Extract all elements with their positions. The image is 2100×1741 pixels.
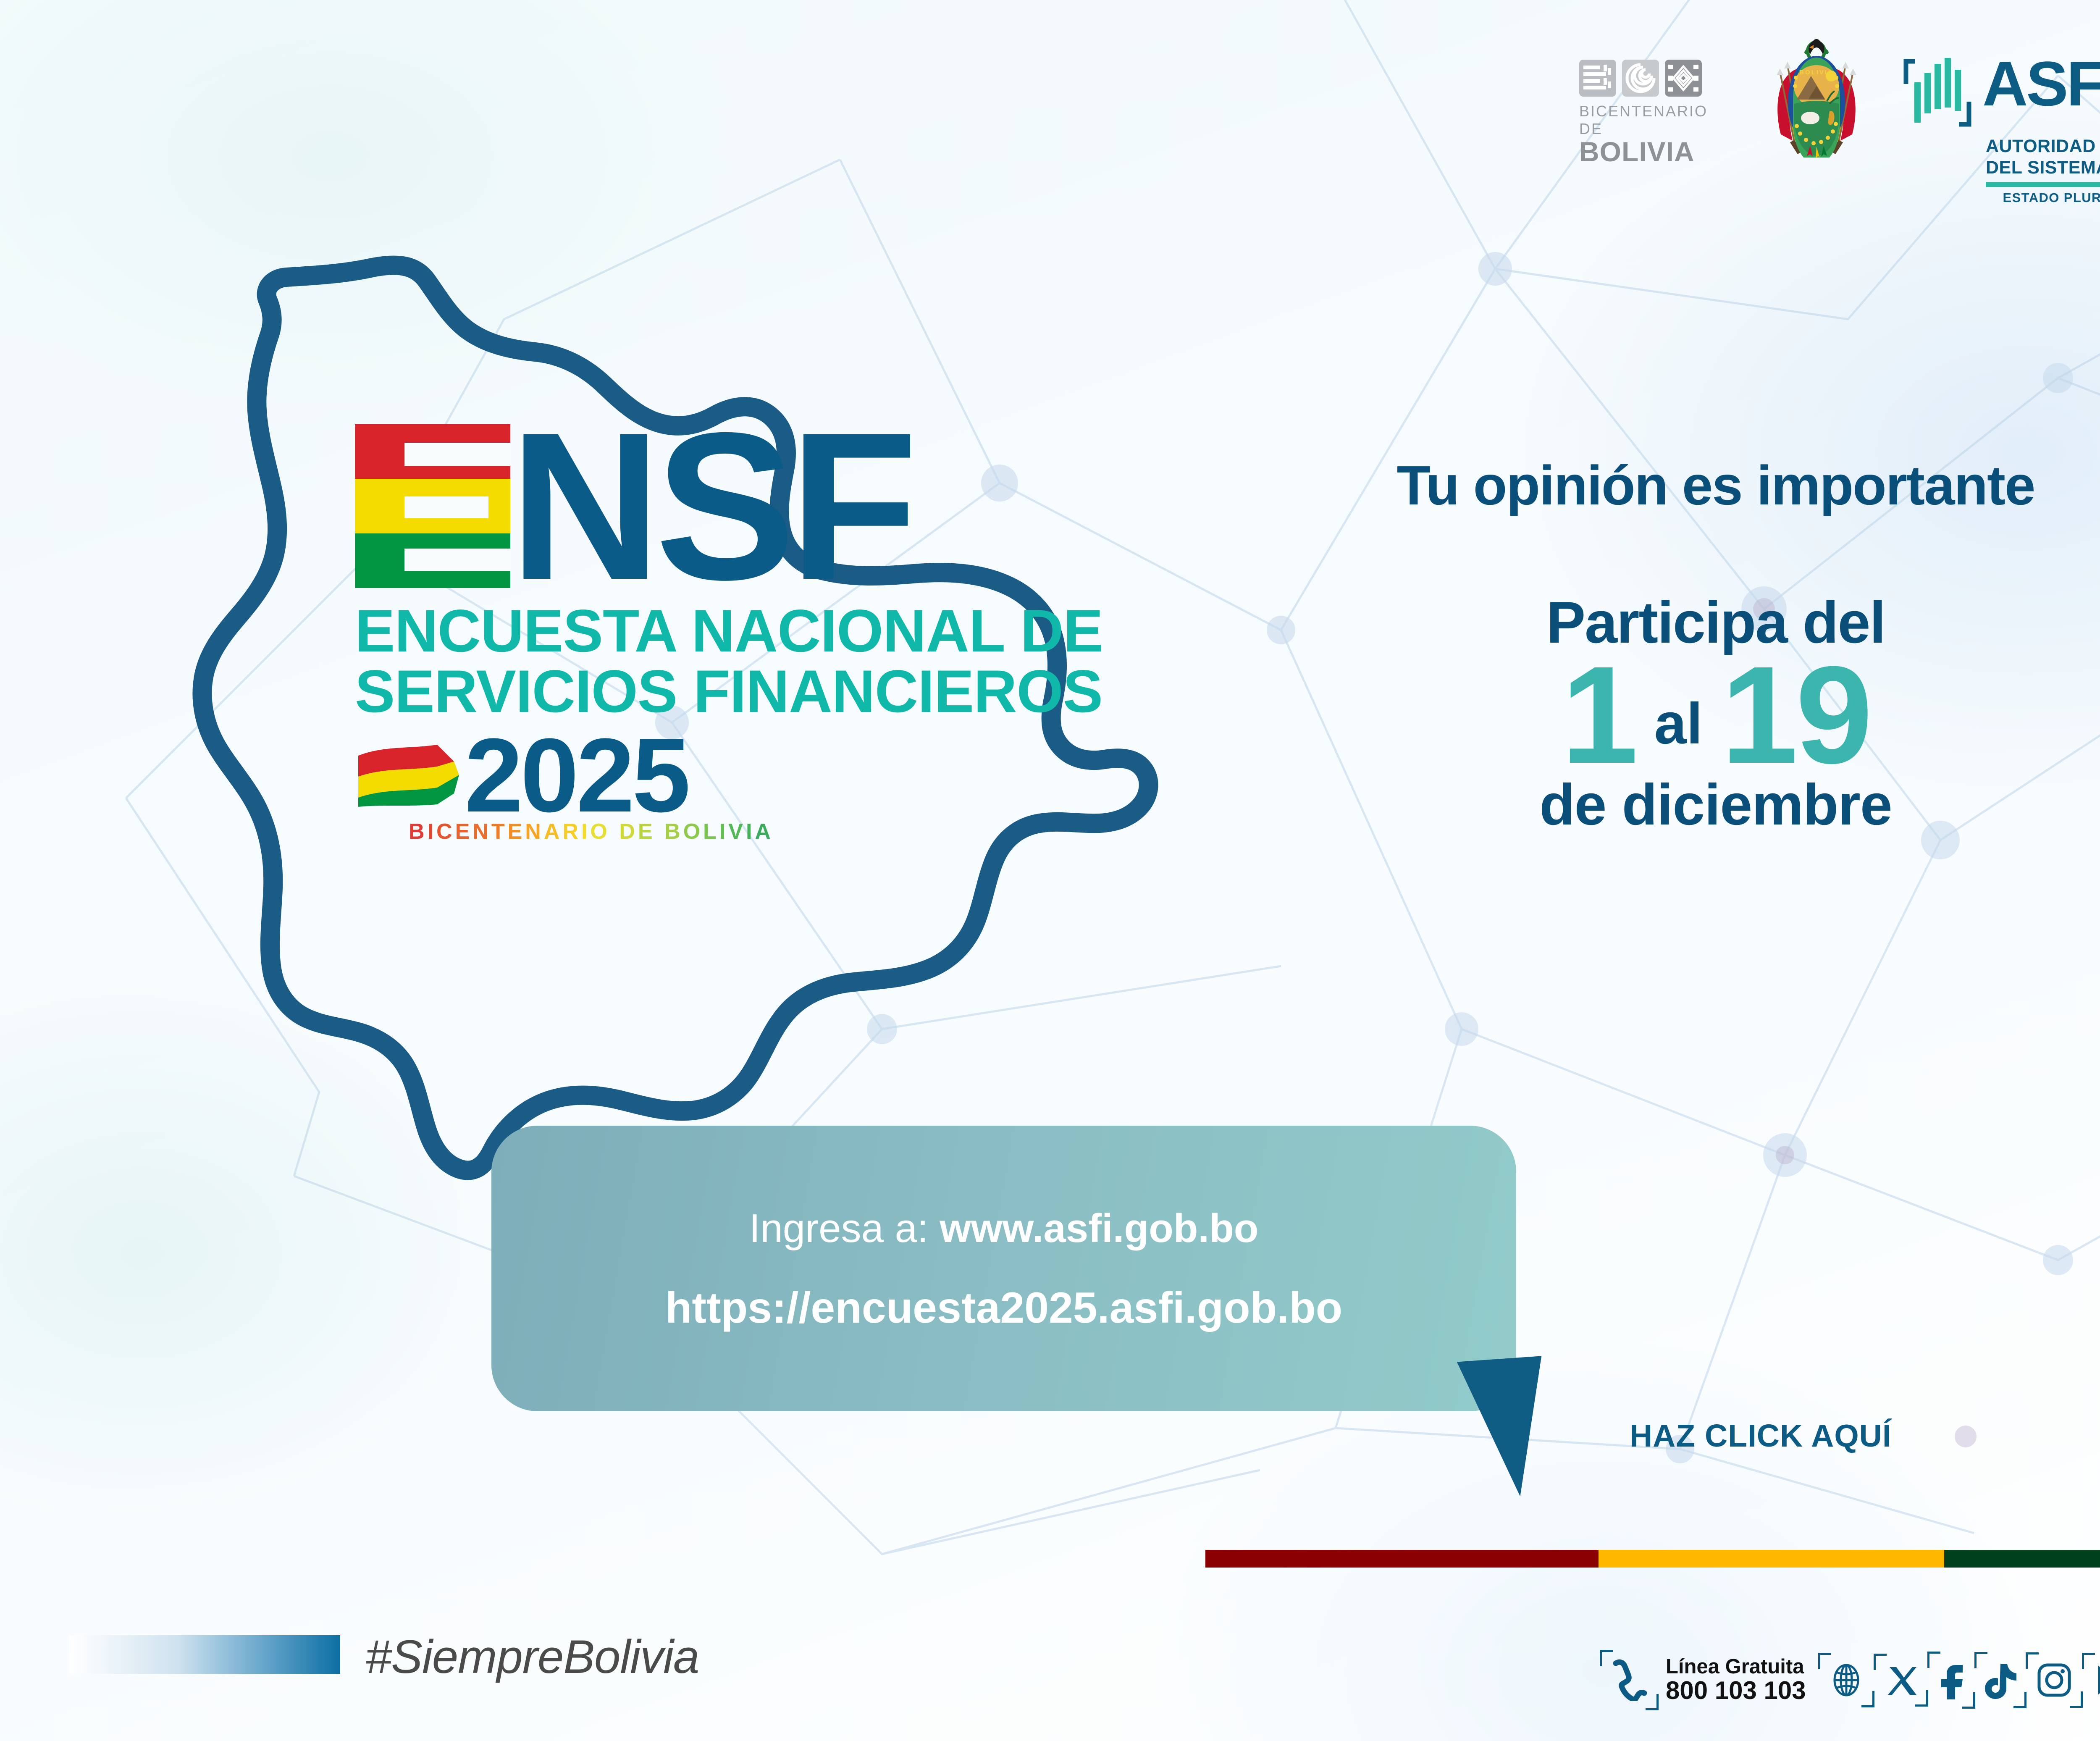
free-line-label: Línea Gratuita xyxy=(1666,1657,1806,1678)
andean-diamond-motif-icon xyxy=(1665,60,1702,97)
phone-icon[interactable] xyxy=(1604,1659,1654,1701)
ensf-letters-nsf: NSF xyxy=(509,424,912,588)
poster-canvas: BICENTENARIO DE BOLIVIA xyxy=(0,0,2100,1741)
bicentenario-label-line1: BICENTENARIO DE xyxy=(1579,102,1718,138)
asfi-wordmark: ASFI xyxy=(1982,55,2100,113)
svg-text:BOLIVIA: BOLIVIA xyxy=(1799,69,1834,76)
promo-headline: Tu opinión es importante xyxy=(1264,454,2100,517)
asfi-logo: ASFI desde 1928 AUTORIDAD DE SUPERVISIÓN… xyxy=(1903,55,2100,205)
free-line-group: Línea Gratuita 800 103 103 xyxy=(1600,1657,1806,1703)
asfi-divider xyxy=(1986,182,2100,187)
promo-date-to: 19 xyxy=(1721,654,1870,776)
asfi-tagline-line2: DEL SISTEMA FINANCIERO xyxy=(1986,157,2100,179)
youtube-play-icon[interactable] xyxy=(2086,1662,2100,1698)
ensf-subtitle-line2: SERVICIOS FINANCIEROS xyxy=(355,659,1178,724)
bubble-url-short-line: Ingresa a: www.asfi.gob.bo xyxy=(491,1205,1516,1252)
haz-click-aqui-label[interactable]: HAZ CLICK AQUÍ xyxy=(1630,1418,1892,1454)
promo-month: de diciembre xyxy=(1264,772,2100,838)
bolivia-coat-of-arms-icon: BOLIVIA xyxy=(1747,36,1886,158)
down-arrow-pointer-icon xyxy=(1457,1356,1551,1500)
ensf-year: 2025 xyxy=(465,728,688,822)
ensf-logo: E NSF ENCUESTA NACIONAL DE SERVICIOS FIN… xyxy=(355,424,1178,844)
bubble-prefix-label: Ingresa a: xyxy=(749,1206,940,1251)
andean-step-motif-icon xyxy=(1579,60,1616,97)
bolivia-flag-ribbon-icon xyxy=(355,743,462,807)
tiktok-icon[interactable] xyxy=(1979,1661,2022,1699)
url-bubble[interactable]: Ingresa a: www.asfi.gob.bo https://encue… xyxy=(491,1126,1516,1411)
asfi-country-label: ESTADO PLURINACIONAL DE BOLIVIA xyxy=(1986,190,2100,205)
asfi-equalizer-icon xyxy=(1903,55,1982,130)
free-line-number: 800 103 103 xyxy=(1666,1678,1806,1703)
gradient-bar-icon xyxy=(69,1635,340,1674)
tricolor-green xyxy=(1944,1550,2100,1568)
promo-date-from: 1 xyxy=(1561,654,1636,776)
header-logos: BICENTENARIO DE BOLIVIA xyxy=(1579,50,2100,147)
ensf-bicentenario-tag: BICENTENARIO DE BOLIVIA BICENTENARIO DE … xyxy=(409,819,1178,844)
promo-date-range: 1 al 19 xyxy=(1264,654,2100,776)
bicentenario-logo: BICENTENARIO DE BOLIVIA xyxy=(1579,60,1718,165)
bicentenario-label-line2: BOLIVIA xyxy=(1579,139,1718,165)
ensf-letter-e-flag: E xyxy=(355,424,510,588)
asfi-tagline-line1: AUTORIDAD DE SUPERVISIÓN xyxy=(1986,136,2100,157)
tricolor-bar xyxy=(1205,1550,2100,1568)
footer-contact-bar: Línea Gratuita 800 103 103 xyxy=(1600,1638,2100,1722)
tricolor-gold xyxy=(1599,1550,1945,1568)
website-globe-icon[interactable] xyxy=(1822,1662,1870,1698)
promo-date-connector: al xyxy=(1654,691,1703,757)
tricolor-red xyxy=(1205,1550,1599,1568)
bicentenario-marks xyxy=(1579,60,1718,97)
hashtag-siempre-bolivia: #SiempreBolivia xyxy=(365,1630,699,1684)
bubble-url-short[interactable]: www.asfi.gob.bo xyxy=(940,1206,1258,1251)
promo-participa-label: Participa del xyxy=(1264,588,2100,656)
promo-column: Tu opinión es importante Participa del 1… xyxy=(1264,454,2100,838)
free-line-text: Línea Gratuita 800 103 103 xyxy=(1666,1657,1806,1703)
facebook-icon[interactable] xyxy=(1932,1661,1971,1699)
x-twitter-icon[interactable] xyxy=(1878,1663,1924,1697)
bubble-url-full[interactable]: https://encuesta2025.asfi.gob.bo xyxy=(491,1283,1516,1333)
instagram-icon[interactable] xyxy=(2030,1662,2079,1699)
ensf-subtitle-line1: ENCUESTA NACIONAL DE xyxy=(355,599,1178,664)
andean-spiral-motif-icon xyxy=(1622,60,1659,97)
